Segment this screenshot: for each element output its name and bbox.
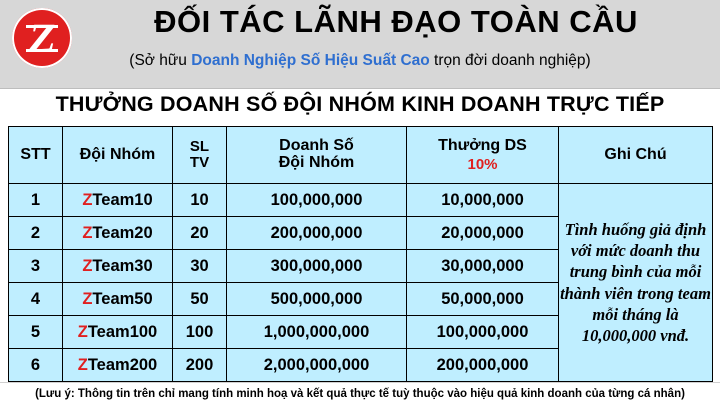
page-title: ĐỐI TÁC LÃNH ĐẠO TOÀN CẦU [78,4,714,40]
col-header-bonus-label: Thưởng DS [407,138,558,155]
page-subtitle: (Sở hữu Doanh Nghiệp Số Hiệu Suất Cao tr… [0,52,720,70]
table-body: 1 ZTeam10 10 100,000,000 10,000,000 Tình… [9,184,713,382]
col-header-member-count: SL TV [173,127,227,184]
footer-disclaimer-bar: (Lưu ý: Thông tin trên chỉ mang tính min… [0,382,720,405]
cell-member-count: 50 [173,283,227,316]
col-header-note: Ghi Chú [559,127,713,184]
cell-bonus: 20,000,000 [407,217,559,250]
bonus-table-wrapper: STT Đội Nhóm SL TV Doanh Số Đội Nhóm Thư… [8,126,712,382]
cell-stt: 2 [9,217,63,250]
cell-note: Tình huống giả định với mức doanh thu tr… [559,184,713,382]
cell-revenue: 1,000,000,000 [227,316,407,349]
cell-revenue: 500,000,000 [227,283,407,316]
cell-stt: 4 [9,283,63,316]
cell-revenue: 200,000,000 [227,217,407,250]
col-header-member-count-line1: SL [173,139,226,155]
team-prefix: Z [82,191,92,209]
team-name: Team30 [92,257,152,275]
subtitle-prefix: (Sở hữu [129,52,191,69]
table-header-row-group: STT Đội Nhóm SL TV Doanh Số Đội Nhóm Thư… [9,127,713,184]
cell-member-count: 200 [173,349,227,382]
cell-bonus: 10,000,000 [407,184,559,217]
team-name: Team50 [92,290,152,308]
team-prefix: Z [82,224,92,242]
team-prefix: Z [82,290,92,308]
table-title: THƯỞNG DOANH SỐ ĐỘI NHÓM KINH DOANH TRỰC… [0,92,720,117]
cell-team: ZTeam10 [63,184,173,217]
cell-member-count: 10 [173,184,227,217]
team-name: Team200 [88,356,157,374]
cell-bonus: 200,000,000 [407,349,559,382]
table-row: 1 ZTeam10 10 100,000,000 10,000,000 Tình… [9,184,713,217]
team-name: Team100 [88,323,157,341]
team-prefix: Z [82,257,92,275]
cell-team: ZTeam30 [63,250,173,283]
col-header-member-count-line2: TV [173,155,226,171]
bonus-percent-badge: 10% [407,157,558,173]
cell-stt: 6 [9,349,63,382]
poster-page: Z ĐỐI TÁC LÃNH ĐẠO TOÀN CẦU (Sở hữu Doan… [0,0,720,405]
cell-revenue: 100,000,000 [227,184,407,217]
col-header-revenue-line1: Doanh Số [227,138,406,155]
team-name: Team20 [92,224,152,242]
cell-bonus: 100,000,000 [407,316,559,349]
cell-member-count: 20 [173,217,227,250]
cell-stt: 5 [9,316,63,349]
cell-stt: 3 [9,250,63,283]
cell-team: ZTeam100 [63,316,173,349]
cell-team: ZTeam50 [63,283,173,316]
cell-team: ZTeam20 [63,217,173,250]
team-prefix: Z [78,323,88,341]
cell-member-count: 100 [173,316,227,349]
footer-disclaimer-text: (Lưu ý: Thông tin trên chỉ mang tính min… [35,388,685,400]
cell-stt: 1 [9,184,63,217]
cell-bonus: 30,000,000 [407,250,559,283]
table-header-row: STT Đội Nhóm SL TV Doanh Số Đội Nhóm Thư… [9,127,713,184]
col-header-revenue-line2: Đội Nhóm [227,155,406,172]
col-header-bonus: Thưởng DS 10% [407,127,559,184]
subtitle-suffix: trọn đời doanh nghiệp) [430,52,591,69]
cell-bonus: 50,000,000 [407,283,559,316]
bonus-table: STT Đội Nhóm SL TV Doanh Số Đội Nhóm Thư… [8,126,713,382]
col-header-team: Đội Nhóm [63,127,173,184]
col-header-revenue: Doanh Số Đội Nhóm [227,127,407,184]
header-band: Z ĐỐI TÁC LÃNH ĐẠO TOÀN CẦU (Sở hữu Doan… [0,0,720,89]
subtitle-highlight: Doanh Nghiệp Số Hiệu Suất Cao [191,52,430,69]
cell-team: ZTeam200 [63,349,173,382]
team-name: Team10 [92,191,152,209]
col-header-stt: STT [9,127,63,184]
team-prefix: Z [78,356,88,374]
cell-revenue: 2,000,000,000 [227,349,407,382]
cell-member-count: 30 [173,250,227,283]
cell-revenue: 300,000,000 [227,250,407,283]
